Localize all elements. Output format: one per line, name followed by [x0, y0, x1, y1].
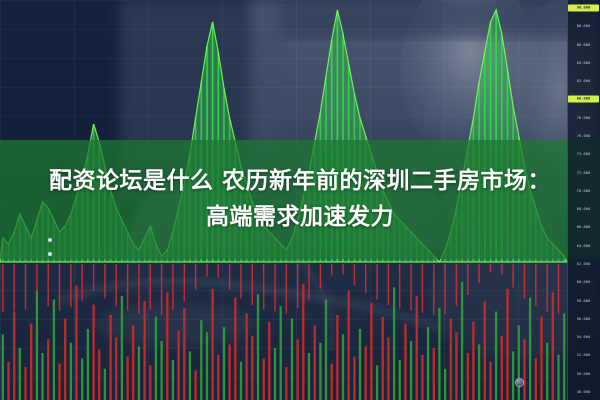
chart-point-marker-b: [48, 252, 52, 256]
chart-point-marker-a: [48, 238, 52, 242]
price-axis-tick: 72.000: [568, 170, 599, 176]
price-axis-tick: 64.000: [568, 243, 599, 249]
price-axis-tick: 90.000: [568, 5, 599, 12]
price-axis-tick: 60.000: [568, 279, 599, 285]
price-axis-tick: 88.000: [568, 23, 599, 29]
price-axis-tick: 66.000: [568, 224, 599, 230]
price-axis-tick: 50.000: [568, 371, 599, 377]
price-axis-tick: 78.000: [568, 115, 599, 121]
article-banner-image: 90.00088.00086.00084.00082.00080.00078.0…: [0, 0, 600, 400]
price-axis-tick: 48.000: [568, 389, 599, 395]
price-axis-tick: 58.000: [568, 298, 599, 304]
price-axis: 90.00088.00086.00084.00082.00080.00078.0…: [567, 0, 600, 400]
headline-line-1: 配资论坛是什么 农历新年前的深圳二手房市场：: [49, 167, 551, 196]
headline-overlay-band: 配资论坛是什么 农历新年前的深圳二手房市场： 高端需求加速发力: [0, 140, 600, 259]
price-axis-tick: 68.000: [568, 206, 599, 212]
price-axis-tick: 74.000: [568, 151, 599, 157]
headline-line-2: 高端需求加速发力: [206, 203, 394, 232]
price-axis-tick: 56.000: [568, 316, 599, 322]
price-axis-tick: 62.000: [568, 261, 599, 267]
price-axis-tick: 80.000: [568, 96, 599, 103]
chart-cursor-marker: [515, 378, 524, 387]
price-axis-tick: 86.000: [568, 42, 599, 48]
price-axis-tick: 76.000: [568, 133, 599, 139]
price-axis-tick: 84.000: [568, 60, 599, 66]
price-axis-tick: 70.000: [568, 188, 599, 194]
price-axis-tick: 82.000: [568, 78, 599, 84]
price-axis-tick: 54.000: [568, 334, 599, 340]
price-axis-tick: 52.000: [568, 352, 599, 358]
